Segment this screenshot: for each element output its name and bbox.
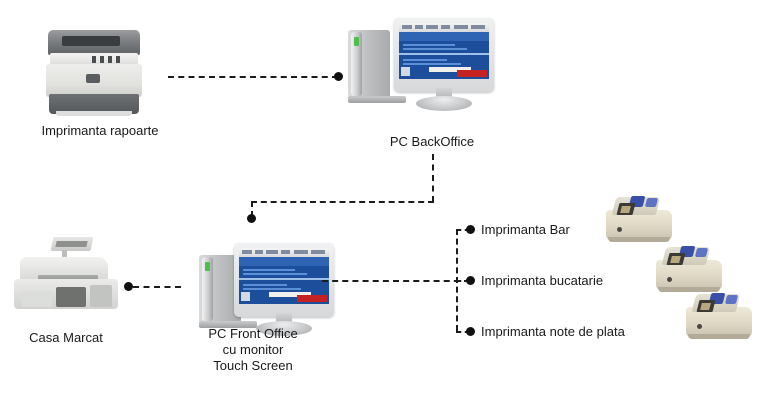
- app-row: [403, 48, 467, 50]
- printer-tray-lip: [56, 111, 132, 116]
- app-row: [243, 269, 295, 271]
- register-numeric-keypad: [56, 287, 86, 307]
- app-row: [243, 284, 287, 286]
- endpoint-dot-bills: [466, 327, 475, 336]
- label-report-printer: Imprimanta rapoarte: [41, 123, 158, 138]
- link-frontoffice-to-printer-bus: [322, 280, 470, 282]
- power-led-icon: [205, 262, 210, 271]
- printer-output-slot: [62, 36, 120, 46]
- printer-base: [688, 334, 750, 339]
- cash-register-icon: [12, 237, 120, 315]
- label-front-office-pc-line3: Touch Screen: [213, 358, 293, 373]
- label-front-office-pc-line1: PC Front Office: [208, 326, 297, 341]
- app-separator: [239, 278, 329, 280]
- monitor-base: [416, 96, 472, 111]
- thermal-printer-icon-bills: [684, 293, 756, 341]
- printer-status-led-icon: [697, 324, 702, 329]
- printer-paper-roll: [670, 256, 681, 263]
- app-alert-banner: [457, 70, 487, 77]
- laser-printer-icon: [42, 26, 146, 118]
- app-status-icon: [401, 67, 410, 76]
- label-back-office-pc: PC BackOffice: [390, 134, 474, 149]
- app-row: [403, 44, 455, 46]
- monitor: [394, 18, 494, 92]
- label-printer-bills: Imprimanta note de plata: [481, 324, 625, 339]
- monitor-screen: [399, 23, 489, 79]
- endpoint-dot-frontoffice-top: [247, 214, 256, 223]
- app-alert-banner: [297, 295, 327, 302]
- label-printer-kitchen: Imprimanta bucatarie: [481, 273, 603, 288]
- label-printer-bar: Imprimanta Bar: [481, 222, 570, 237]
- thermal-printer-icon-kitchen: [654, 246, 726, 294]
- pc-tower-base: [348, 96, 406, 103]
- printer-status-led-icon: [667, 277, 672, 282]
- touch-screen-monitor: [234, 243, 334, 317]
- app-toolbar: [239, 248, 329, 257]
- desktop-computer-icon-backoffice: [348, 18, 498, 128]
- endpoint-dot-bar: [466, 225, 475, 234]
- app-header-bar: [399, 32, 489, 41]
- link-backoffice-vertical: [432, 154, 434, 202]
- app-row: [403, 59, 447, 61]
- link-cashregister-to-frontoffice: [133, 286, 181, 288]
- app-header-bar: [239, 257, 329, 266]
- app-toolbar: [399, 23, 489, 32]
- endpoint-dot-cash-register: [124, 282, 133, 291]
- app-row: [243, 273, 307, 275]
- link-report-printer-to-backoffice: [168, 76, 338, 78]
- register-side-keys: [90, 285, 112, 307]
- label-cash-register: Casa Marcat: [29, 330, 103, 345]
- network-diagram: Imprimanta rapoarte: [0, 0, 757, 401]
- app-row: [403, 63, 461, 65]
- monitor-screen: [239, 248, 329, 304]
- printer-base: [608, 237, 670, 242]
- printer-status-led-icon: [617, 227, 622, 232]
- printer-base: [658, 287, 720, 292]
- customer-display-screen: [55, 241, 87, 247]
- link-backoffice-horizontal: [251, 201, 434, 203]
- app-status-icon: [241, 292, 250, 301]
- printer-buttons: [92, 56, 126, 63]
- printer-paper-roll: [620, 206, 631, 213]
- app-row: [243, 288, 301, 290]
- printer-brand-logo: [86, 74, 100, 83]
- power-led-icon: [354, 37, 359, 46]
- endpoint-dot-backoffice-left: [334, 72, 343, 81]
- printer-paper-roll: [700, 303, 711, 310]
- register-function-keys: [22, 291, 52, 307]
- app-separator: [399, 53, 489, 55]
- thermal-printer-icon-bar: [604, 196, 676, 244]
- label-front-office-pc-line2: cu monitor: [223, 342, 284, 357]
- endpoint-dot-kitchen: [466, 276, 475, 285]
